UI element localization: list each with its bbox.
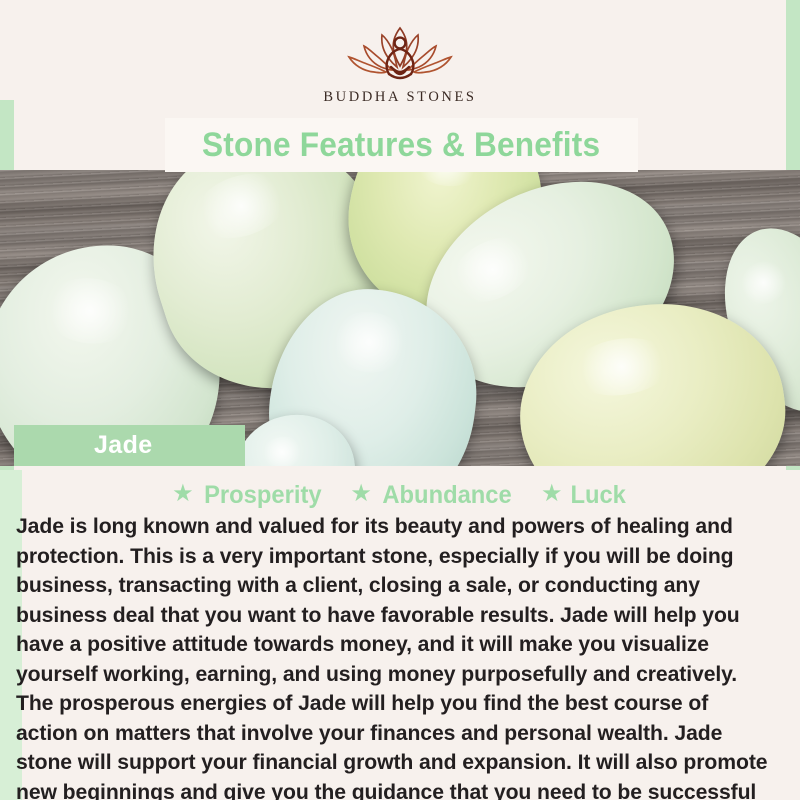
benefit-label: Prosperity	[204, 481, 321, 510]
page-title: Stone Features & Benefits	[202, 128, 600, 162]
stone-name-bar: Jade	[14, 425, 245, 466]
brand-name: BUDDHA STONES	[323, 89, 476, 106]
benefit-label: Abundance	[382, 481, 511, 510]
benefit-item: ★ Prosperity	[172, 481, 324, 510]
title-banner: Stone Features & Benefits	[165, 118, 638, 172]
benefit-label: Luck	[571, 481, 626, 510]
stone-description: Jade is long known and valued for its be…	[16, 512, 772, 800]
benefit-item: ★ Abundance	[350, 481, 515, 510]
stone-benefits-poster: BUDDHA STONES Stone Features & Benefits …	[0, 0, 800, 800]
star-icon: ★	[172, 482, 194, 506]
star-icon: ★	[541, 482, 563, 506]
lotus-meditation-logo-icon	[337, 22, 463, 84]
benefits-row: ★ Prosperity ★ Abundance ★ Luck	[14, 478, 786, 512]
stone-name-label: Jade	[94, 431, 153, 460]
star-icon: ★	[350, 482, 372, 506]
jade-stones-photo	[0, 170, 800, 466]
benefit-item: ★ Luck	[541, 481, 628, 510]
brand-header: BUDDHA STONES	[14, 0, 786, 120]
